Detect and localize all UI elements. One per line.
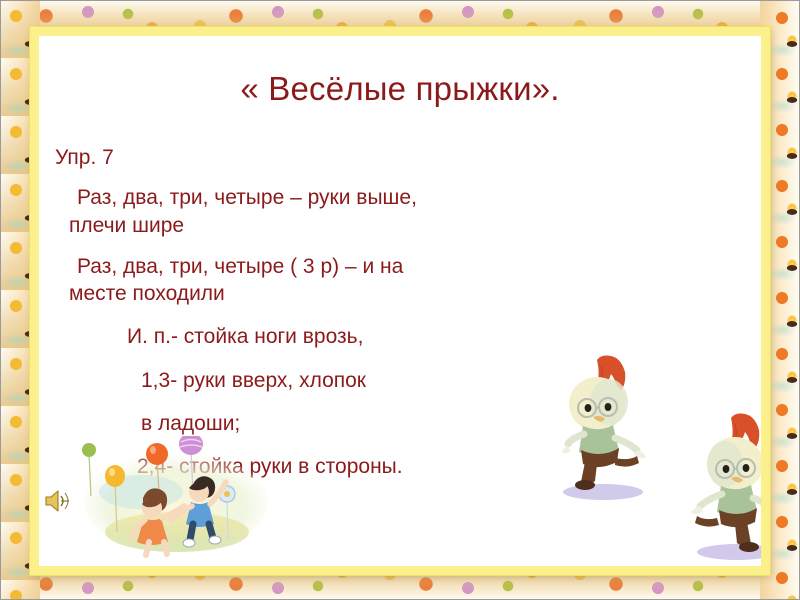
- chick-character-left: [551, 354, 655, 504]
- text-line-2: Раз, два, три, четыре – руки выше,: [77, 184, 575, 211]
- text-line-7: 1,3- руки вверх, хлопок: [141, 367, 575, 394]
- chick-character-right: [687, 412, 770, 562]
- slide-title: « Весёлые прыжки».: [39, 70, 761, 108]
- text-line-5: месте походили: [69, 280, 575, 307]
- speaker-icon[interactable]: [43, 488, 73, 514]
- slide-body-text: Упр. 7 Раз, два, три, четыре – руки выше…: [55, 144, 575, 481]
- presentation-slide: « Весёлые прыжки». Упр. 7 Раз, два, три,…: [0, 0, 800, 600]
- text-line-8: в ладоши;: [141, 410, 575, 437]
- text-line-3: плечи шире: [69, 212, 575, 239]
- text-line-1: Упр. 7: [55, 144, 575, 171]
- children-with-balloons-illustration: [81, 436, 271, 558]
- text-line-6: И. п.- стойка ноги врозь,: [127, 323, 575, 350]
- text-line-4: Раз, два, три, четыре ( 3 р) – и на: [77, 253, 575, 280]
- slide-content-frame: « Весёлые прыжки». Упр. 7 Раз, два, три,…: [30, 27, 770, 575]
